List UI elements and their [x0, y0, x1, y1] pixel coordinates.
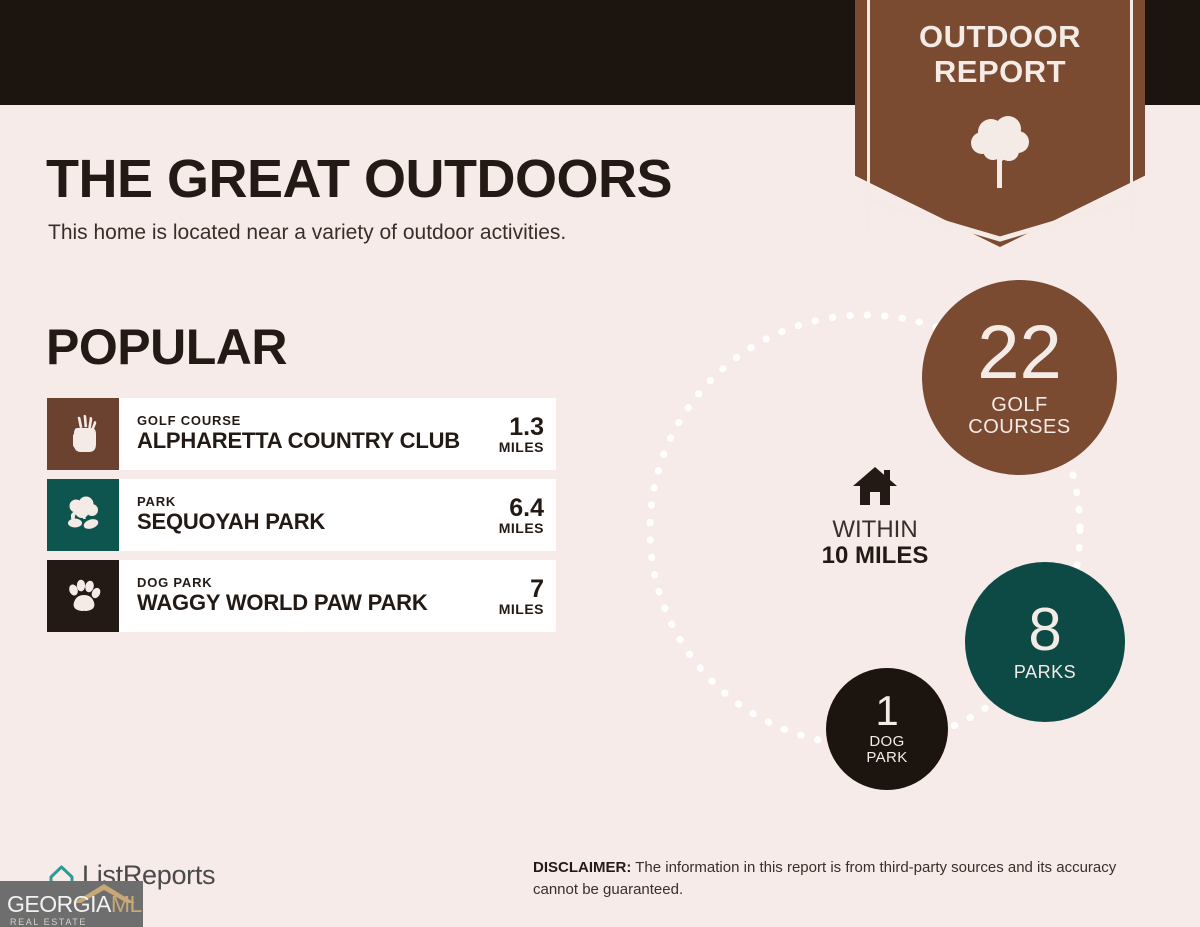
- list-item-icon-tile: [47, 560, 119, 632]
- house-icon: [851, 465, 899, 507]
- golf-bag-icon: [62, 413, 104, 455]
- distance-value: 6.4: [499, 495, 544, 521]
- list-item-body: PARK SEQUOYAH PARK 6.4 MILES: [119, 479, 556, 551]
- outdoor-report-badge: OUTDOOR REPORT: [855, 0, 1145, 247]
- badge-title-line2: REPORT: [855, 55, 1145, 90]
- diagram-center-label: WITHIN 10 MILES: [790, 465, 960, 570]
- stat-label-line1: PARKS: [1014, 663, 1076, 682]
- list-item[interactable]: PARK SEQUOYAH PARK 6.4 MILES: [47, 479, 556, 551]
- park-tree-icon: [62, 494, 104, 536]
- distance-unit: MILES: [499, 440, 544, 455]
- list-item-distance: 1.3 MILES: [491, 414, 544, 455]
- stat-label-line1: DOG: [866, 734, 907, 750]
- stat-bubble-parks[interactable]: 8 PARKS: [965, 562, 1125, 722]
- list-item[interactable]: DOG PARK WAGGY WORLD PAW PARK 7 MILES: [47, 560, 556, 632]
- stat-bubble-golf-courses[interactable]: 22 GOLF COURSES: [922, 280, 1117, 475]
- stat-label-line1: GOLF: [968, 395, 1070, 417]
- list-item-name: SEQUOYAH PARK: [137, 510, 325, 535]
- stat-label: GOLF COURSES: [968, 395, 1070, 438]
- stat-label: PARKS: [1014, 663, 1076, 682]
- stat-label: DOG PARK: [866, 734, 907, 766]
- page-subtitle: This home is located near a variety of o…: [48, 221, 566, 245]
- stat-count: 1: [875, 691, 898, 731]
- distance-unit: MILES: [499, 602, 544, 617]
- section-title-popular: POPULAR: [46, 318, 287, 376]
- list-item-icon-tile: [47, 398, 119, 470]
- within-10-miles-diagram: WITHIN 10 MILES 22 GOLF COURSES 8 PARKS …: [620, 270, 1180, 810]
- list-item-name: ALPHARETTA COUNTRY CLUB: [137, 429, 460, 454]
- list-item-category: PARK: [137, 495, 325, 510]
- list-item-distance: 7 MILES: [491, 576, 544, 617]
- list-item-body: DOG PARK WAGGY WORLD PAW PARK 7 MILES: [119, 560, 556, 632]
- stat-bubble-dog-park[interactable]: 1 DOG PARK: [826, 668, 948, 790]
- badge-title-line1: OUTDOOR: [919, 19, 1081, 54]
- tree-icon: [971, 112, 1029, 190]
- list-item-distance: 6.4 MILES: [491, 495, 544, 536]
- list-item-category: DOG PARK: [137, 576, 428, 591]
- disclaimer-label: DISCLAIMER:: [533, 859, 631, 876]
- stat-label-line2: PARK: [866, 750, 907, 766]
- page-title: THE GREAT OUTDOORS: [46, 148, 672, 210]
- list-item-body: GOLF COURSE ALPHARETTA COUNTRY CLUB 1.3 …: [119, 398, 556, 470]
- georgia-mls-watermark: GEORGIAMLS REAL ESTATE SERVICES: [0, 881, 143, 927]
- distance-unit: MILES: [499, 521, 544, 536]
- list-item[interactable]: GOLF COURSE ALPHARETTA COUNTRY CLUB 1.3 …: [47, 398, 556, 470]
- paw-print-icon: [62, 575, 104, 617]
- list-item-texts: GOLF COURSE ALPHARETTA COUNTRY CLUB: [137, 414, 460, 453]
- badge-title: OUTDOOR REPORT: [855, 20, 1145, 89]
- stat-count: 22: [977, 317, 1062, 389]
- stat-label-line2: COURSES: [968, 417, 1070, 439]
- list-item-texts: PARK SEQUOYAH PARK: [137, 495, 325, 534]
- center-label-line2: 10 MILES: [790, 543, 960, 569]
- list-item-icon-tile: [47, 479, 119, 551]
- georgia-mls-wordmark: GEORGIAMLS: [7, 893, 143, 916]
- georgia-text: GEORGIA: [7, 891, 111, 917]
- distance-value: 1.3: [499, 414, 544, 440]
- list-item-texts: DOG PARK WAGGY WORLD PAW PARK: [137, 576, 428, 615]
- disclaimer: DISCLAIMER: The information in this repo…: [533, 857, 1163, 901]
- list-item-category: GOLF COURSE: [137, 414, 460, 429]
- stat-count: 8: [1028, 601, 1061, 658]
- mls-text: MLS: [111, 891, 143, 917]
- popular-list: GOLF COURSE ALPHARETTA COUNTRY CLUB 1.3 …: [47, 398, 556, 641]
- distance-value: 7: [499, 576, 544, 602]
- list-item-name: WAGGY WORLD PAW PARK: [137, 591, 428, 616]
- center-label-line1: WITHIN: [790, 517, 960, 543]
- georgia-mls-tagline: REAL ESTATE SERVICES: [10, 917, 143, 927]
